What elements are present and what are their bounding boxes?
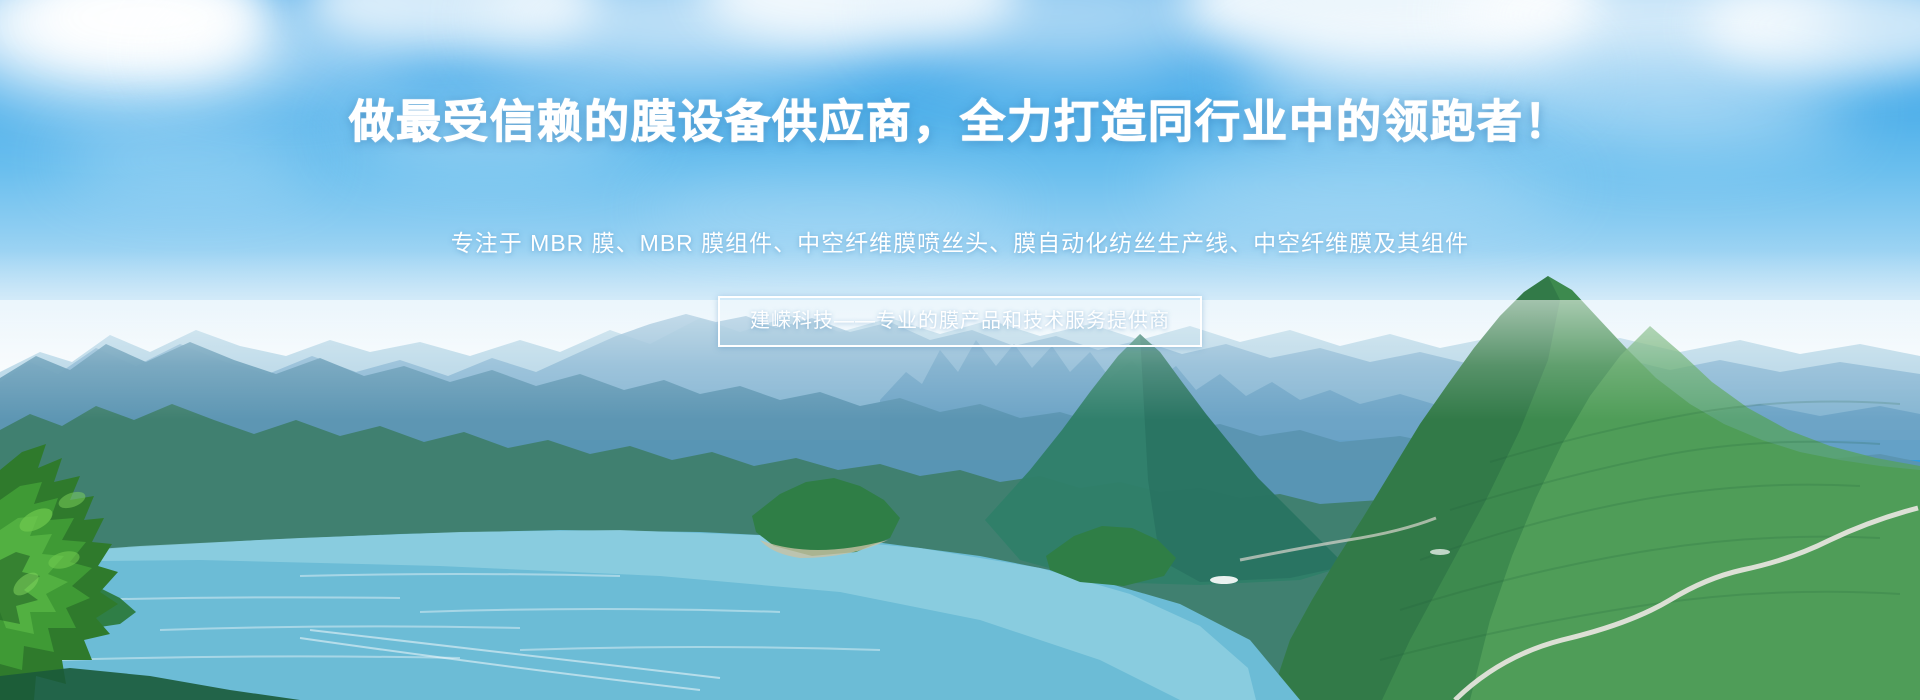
boat bbox=[1210, 576, 1238, 584]
banner-subheadline: 专注于 MBR 膜、MBR 膜组件、中空纤维膜喷丝头、膜自动化纺丝生产线、中空纤… bbox=[0, 226, 1920, 260]
banner-headline: 做最受信赖的膜设备供应商，全力打造同行业中的领跑者！ bbox=[0, 96, 1920, 148]
banner-tagline-box: 建嵘科技——专业的膜产品和技术服务提供商 bbox=[718, 296, 1202, 347]
banner-tagline-wrapper: 建嵘科技——专业的膜产品和技术服务提供商 bbox=[0, 296, 1920, 347]
hero-banner: 做最受信赖的膜设备供应商，全力打造同行业中的领跑者！ 专注于 MBR 膜、MBR… bbox=[0, 0, 1920, 700]
boat-far bbox=[1430, 549, 1450, 555]
